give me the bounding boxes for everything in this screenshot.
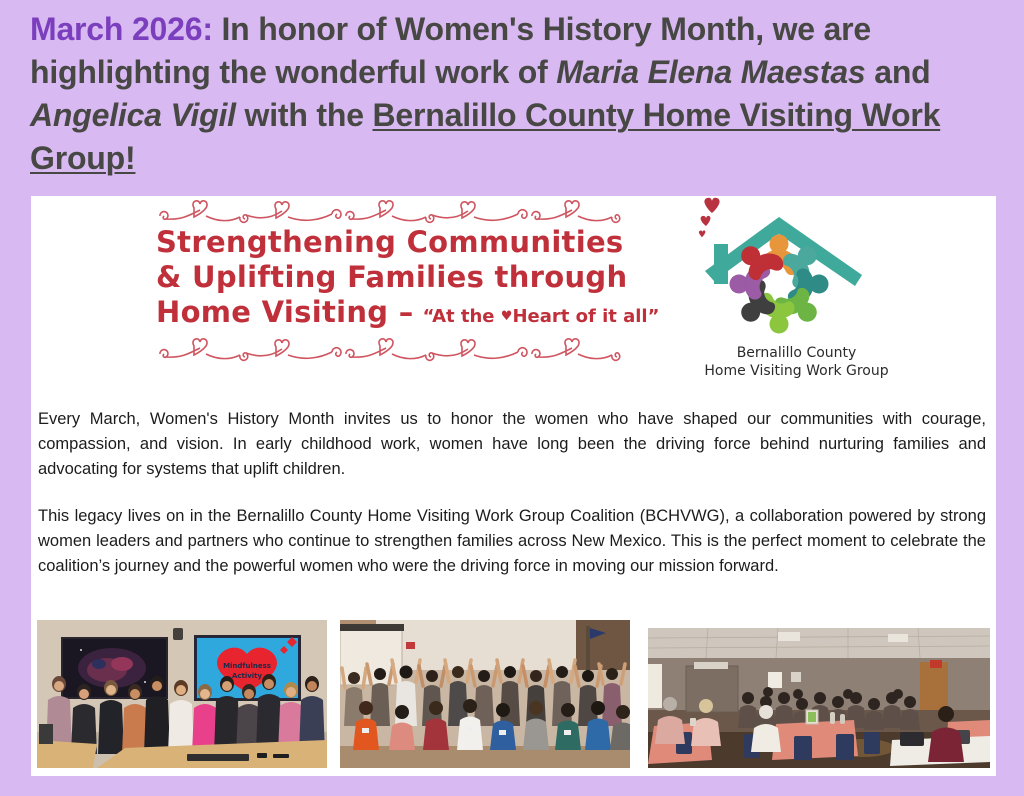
bchvwg-logo: Bernalillo County Home Visiting Work Gro… <box>679 196 914 396</box>
headline-name-maria-elena-maestas: Maria Elena Maestas <box>556 54 865 90</box>
content-card: Strengthening Communities & Uplifting Fa… <box>31 196 996 776</box>
banner-line-2: & Uplifting Families through <box>156 260 666 295</box>
headline-segment-3: with the <box>236 97 373 133</box>
page-title: March 2026: In honor of Women's History … <box>30 8 998 180</box>
logo-caption-line-1: Bernalillo County <box>679 344 914 362</box>
heart-icon: ♥ <box>501 309 513 324</box>
banner-headline: Strengthening Communities & Uplifting Fa… <box>156 225 666 334</box>
banner-line-1: Strengthening Communities <box>156 225 666 260</box>
logo-caption: Bernalillo County Home Visiting Work Gro… <box>679 344 914 380</box>
body-copy: Every March, Women's History Month invit… <box>31 407 996 579</box>
photo-group-hands-raised <box>340 620 630 768</box>
heart-swirl-divider-bottom-icon <box>156 336 638 362</box>
photo-strip: Mindfulness Activity <box>37 620 995 772</box>
headline-segment-2: and <box>866 54 931 90</box>
newsletter-page: March 2026: In honor of Women's History … <box>0 0 1024 796</box>
logo-graphic <box>679 196 914 346</box>
banner-text-block: Strengthening Communities & Uplifting Fa… <box>156 198 666 396</box>
headline-month: March 2026: <box>30 11 213 47</box>
paragraph-2: This legacy lives on in the Bernalillo C… <box>38 504 986 579</box>
paragraph-1: Every March, Women's History Month invit… <box>38 407 986 482</box>
tagline-open: “At the <box>423 306 501 327</box>
headline-name-angelica-vigil: Angelica Vigil <box>30 97 236 133</box>
photo-banquet-room <box>648 628 990 768</box>
heart-swirl-divider-top-icon <box>156 198 638 224</box>
tagline-rest: Heart of it all” <box>512 306 659 327</box>
chimney-hearts-icon <box>699 198 720 237</box>
svg-text:Mindfulness: Mindfulness <box>223 662 271 670</box>
banner-line-3: Home Visiting – <box>156 295 414 330</box>
logo-caption-line-2: Home Visiting Work Group <box>679 362 914 380</box>
people-circle-icon <box>730 235 829 334</box>
svg-text:Activity: Activity <box>232 672 263 680</box>
banner: Strengthening Communities & Uplifting Fa… <box>31 196 996 399</box>
photo-group-conference-room: Mindfulness Activity <box>37 620 327 768</box>
banner-tagline: “At the ♥Heart of it all” <box>423 299 660 334</box>
